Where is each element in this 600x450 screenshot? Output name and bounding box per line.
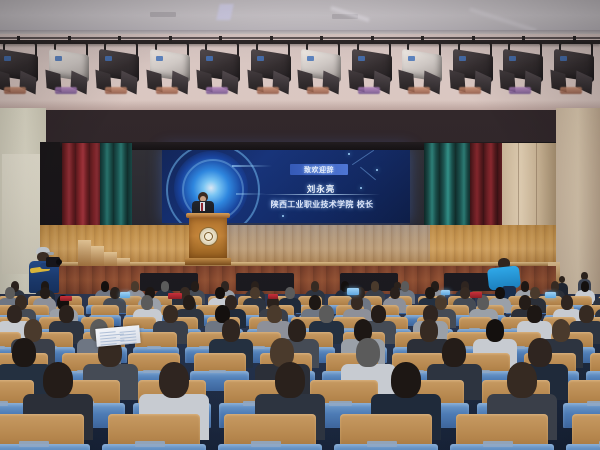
audience-member-head bbox=[527, 305, 542, 323]
auditorium-seat[interactable] bbox=[0, 400, 90, 450]
audience-member-head bbox=[311, 281, 320, 292]
audience-member-head bbox=[442, 338, 466, 367]
audience-member-head bbox=[250, 287, 260, 299]
audience-member-head bbox=[43, 362, 73, 398]
audience-member-head bbox=[319, 305, 334, 323]
auditorium-seat[interactable] bbox=[218, 400, 322, 450]
stage-light-1 bbox=[0, 42, 42, 104]
stage-light-5 bbox=[198, 42, 244, 104]
auditorium-seat[interactable] bbox=[334, 400, 438, 450]
audience-member-head bbox=[521, 281, 530, 292]
audience-member-head bbox=[141, 295, 153, 310]
audience-member-head bbox=[5, 287, 15, 299]
audience-member-head bbox=[460, 287, 470, 299]
audience-member-head bbox=[579, 305, 594, 323]
audience-member-head bbox=[552, 319, 571, 342]
slide-badge: 致欢迎辞 bbox=[290, 164, 348, 175]
audience-device-screen bbox=[120, 292, 130, 298]
audience-member-head bbox=[391, 362, 421, 398]
stage-light-7 bbox=[299, 42, 345, 104]
audience-device-screen bbox=[347, 288, 359, 295]
stage-light-12 bbox=[552, 42, 598, 104]
audience-device-screen bbox=[545, 292, 556, 298]
auditorium-photo: 致欢迎辞 刘永亮 陕西工业职业技术学院 校长 bbox=[0, 0, 600, 450]
audience-member-head bbox=[425, 287, 435, 299]
audience-member-head bbox=[581, 281, 590, 292]
stage-light-2 bbox=[47, 42, 93, 104]
truss-rail-upper bbox=[0, 37, 600, 39]
audience-member-head bbox=[267, 305, 282, 323]
audience-member-head bbox=[561, 295, 573, 310]
slide-speaker-title: 陕西工业职业技术学院 校长 bbox=[244, 199, 400, 210]
audience-member-head bbox=[159, 362, 189, 398]
audience-member-head bbox=[183, 295, 195, 310]
right-wall bbox=[556, 108, 600, 294]
audience-member-head bbox=[486, 319, 505, 342]
auditorium-seat[interactable] bbox=[450, 400, 554, 450]
audience-member-head bbox=[110, 287, 120, 299]
audience-member-head bbox=[101, 281, 110, 292]
audience-member-head bbox=[507, 362, 537, 398]
stage-light-9 bbox=[400, 42, 446, 104]
audience-member-head bbox=[163, 305, 178, 323]
school-emblem bbox=[199, 227, 218, 246]
audience-member-head bbox=[530, 287, 540, 299]
audience-member-head bbox=[390, 287, 400, 299]
audience-member-head bbox=[7, 305, 22, 323]
stage-light-11 bbox=[501, 42, 547, 104]
speaking-podium bbox=[188, 213, 228, 265]
audience-member-head bbox=[528, 338, 552, 367]
stage-light-4 bbox=[148, 42, 194, 104]
seat-number-plate bbox=[483, 441, 513, 447]
audience-member-head bbox=[215, 287, 225, 299]
red-folder bbox=[268, 294, 278, 299]
audience-member-head bbox=[371, 281, 380, 292]
ceiling bbox=[0, 0, 600, 34]
audience-member-head bbox=[191, 281, 200, 292]
slide-badge-label: 致欢迎辞 bbox=[304, 165, 334, 175]
stage-light-10 bbox=[451, 42, 497, 104]
stage-light-6 bbox=[249, 42, 295, 104]
audience-member-head bbox=[551, 281, 560, 292]
seat-number-plate bbox=[19, 441, 49, 447]
red-folder bbox=[60, 296, 72, 301]
audience-member-head bbox=[288, 319, 307, 342]
slide-divider bbox=[262, 194, 380, 195]
audience-member-head bbox=[285, 287, 295, 299]
audience-member-head bbox=[495, 287, 505, 299]
audience-member-head bbox=[420, 319, 439, 342]
audience-member-head bbox=[12, 338, 36, 367]
audience-member-head bbox=[275, 362, 305, 398]
seat-number-plate bbox=[251, 441, 281, 447]
red-folder bbox=[470, 292, 482, 298]
seat-number-plate bbox=[135, 441, 165, 447]
audience-member-head bbox=[59, 305, 74, 323]
audience-member-head bbox=[131, 281, 140, 292]
open-white-booklet bbox=[95, 325, 140, 347]
audience-member-head bbox=[401, 281, 410, 292]
stage-light-8 bbox=[350, 42, 396, 104]
auditorium-seat[interactable] bbox=[102, 400, 206, 450]
stage-light-3 bbox=[97, 42, 143, 104]
audience-member-head bbox=[371, 305, 386, 323]
audience-member-head bbox=[161, 281, 170, 292]
audience-member-head bbox=[222, 319, 241, 342]
audience-member-head bbox=[356, 338, 380, 367]
audience-member-head bbox=[40, 287, 50, 299]
audience-member-head bbox=[351, 295, 363, 310]
seat-number-plate bbox=[367, 441, 397, 447]
red-folder bbox=[168, 293, 182, 299]
stage-steps-left bbox=[78, 240, 130, 266]
audience-device-screen bbox=[441, 290, 450, 295]
auditorium-seat[interactable] bbox=[566, 400, 600, 450]
